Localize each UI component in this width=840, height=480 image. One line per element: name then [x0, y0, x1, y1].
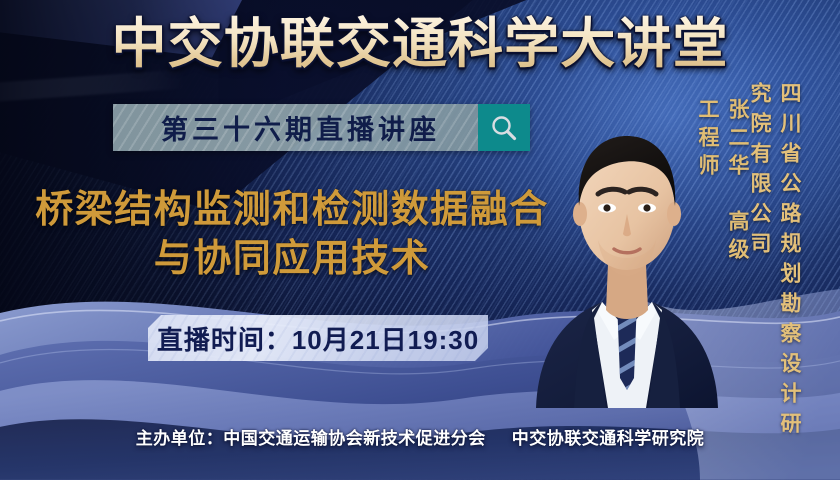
lecture-title-line-2: 与协同应用技术 [18, 235, 566, 284]
episode-banner: 第三十六期直播讲座 [113, 104, 530, 151]
organizer-prefix: 主办单位： [136, 429, 224, 448]
live-time-text: 直播时间：10月21日19:30 [157, 320, 479, 357]
organizer-name-1: 中国交通运输协会新技术促进分会 [223, 429, 486, 448]
speaker-name-vertical: 张二华 高级工程师 [692, 98, 752, 278]
search-icon[interactable] [478, 104, 530, 151]
live-time-banner: 直播时间：10月21日19:30 [148, 315, 488, 361]
live-lecture-poster: 中交协联交通科学大讲堂 第三十六期直播讲座 桥梁结构监测和检测数据融合 与协同应… [0, 0, 840, 480]
speaker-name: 张二华 高级工程师 [696, 98, 749, 266]
lecture-title-line-1: 桥梁结构监测和检测数据融合 [18, 186, 566, 235]
episode-label: 第三十六期直播讲座 [161, 108, 440, 147]
organizer-footer: 主办单位：中国交通运输协会新技术促进分会中交协联交通科学研究院 [0, 424, 840, 449]
speaker-organization-vertical: 四川省公路规划勘察设计研究院有限公司 [744, 82, 804, 454]
page-title: 中交协联交通科学大讲堂 [0, 14, 840, 74]
episode-banner-text: 第三十六期直播讲座 [113, 104, 478, 151]
speaker-organization: 四川省公路规划勘察设计研究院有限公司 [748, 82, 801, 442]
organizer-name-2: 中交协联交通科学研究院 [512, 429, 705, 448]
lecture-title: 桥梁结构监测和检测数据融合 与协同应用技术 [18, 186, 566, 284]
